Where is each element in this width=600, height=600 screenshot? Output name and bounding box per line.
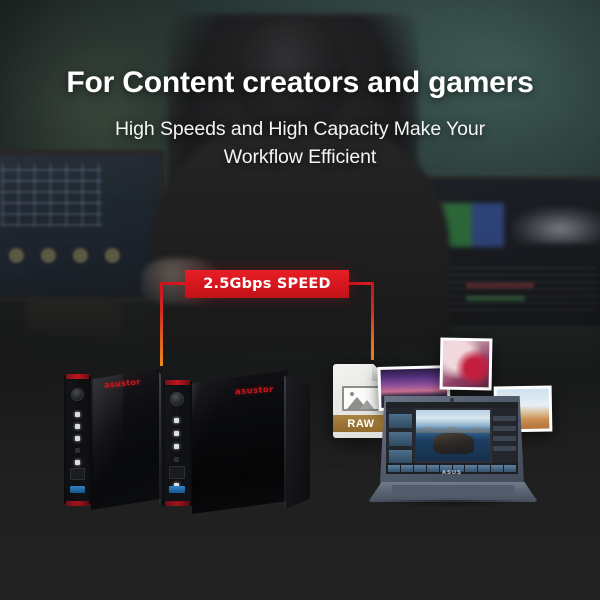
laptop-screen	[386, 402, 518, 474]
photo-card-portrait	[440, 338, 493, 391]
app-left-panel	[386, 408, 415, 463]
nas-box-top-accent	[165, 380, 190, 385]
subtitle-line-1: High Speeds and High Capacity Make Your	[42, 115, 558, 143]
nas-box-side	[286, 375, 310, 509]
nas-box-bottom-accent	[165, 501, 190, 506]
power-button-icon	[170, 392, 184, 406]
usb-port-icon	[169, 486, 185, 493]
canvas-mountains	[416, 425, 490, 433]
marketing-banner: For Content creators and gamers High Spe…	[0, 0, 600, 600]
laptop-shadow	[374, 500, 532, 508]
sun-dot-icon	[350, 392, 354, 396]
nas-box-drive-slot	[169, 466, 185, 479]
usb-port-icon	[70, 486, 85, 493]
app-right-panel	[492, 408, 518, 463]
nas-tower-face-sheen	[93, 374, 123, 504]
laptop-lid: ASUS	[380, 396, 524, 484]
laptop-keyboard	[392, 485, 514, 496]
nas-box-led-stack	[174, 418, 180, 496]
asustor-nas-box: asustor	[163, 370, 313, 510]
page-title: For Content creators and gamers	[42, 66, 558, 100]
power-button-icon	[71, 388, 84, 401]
laptop-base	[368, 482, 538, 502]
speed-badge: 2.5Gbps SPEED	[185, 270, 349, 298]
photo-image	[443, 341, 490, 388]
page-subtitle: High Speeds and High Capacity Make Your …	[42, 115, 558, 171]
nas-tower-bottom-accent	[66, 501, 89, 506]
asus-laptop: ASUS	[368, 396, 538, 508]
subtitle-line-2: Workflow Efficient	[42, 143, 558, 171]
speed-badge-label: 2.5Gbps SPEED	[203, 276, 331, 292]
nas-tower-top-accent	[66, 374, 89, 379]
canvas-island	[433, 433, 474, 453]
app-canvas-photo	[416, 410, 490, 461]
nas-tower-drive-slot	[70, 468, 85, 480]
headline-block: For Content creators and gamers High Spe…	[0, 66, 600, 171]
laptop-brand-label: ASUS	[442, 470, 462, 476]
